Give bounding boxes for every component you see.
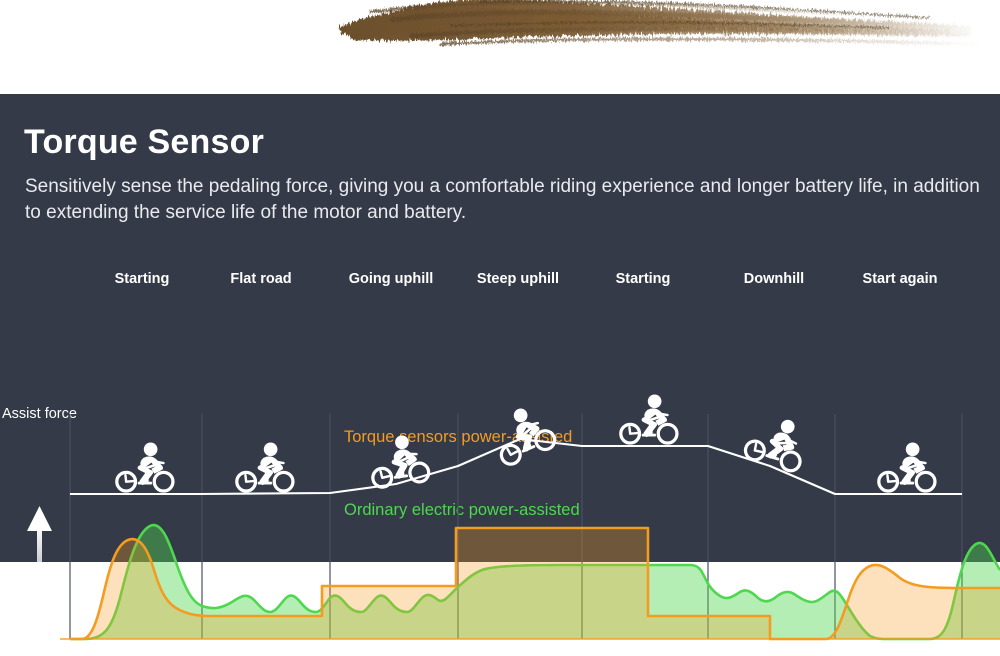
- assist-force-chart: [0, 188, 1000, 656]
- page-root: Torque Sensor Sensitively sense the peda…: [0, 0, 1000, 562]
- rider-icon-steep-uphill: [487, 400, 558, 467]
- torque-sensor-panel: Torque Sensor Sensitively sense the peda…: [0, 94, 1000, 562]
- rider-icon-start-again: [879, 442, 935, 491]
- rider-icon-starting-2: [621, 394, 677, 443]
- mud-brush-stroke-icon: [330, 0, 990, 54]
- series-area-torque: [70, 528, 1000, 639]
- rider-icon-flat-road: [237, 442, 293, 491]
- up-arrow-icon: [27, 506, 52, 638]
- page-title: Torque Sensor: [24, 123, 264, 162]
- top-image-strip: [0, 0, 1000, 94]
- rider-icon-starting-1: [117, 442, 173, 491]
- rider-icon-going-uphill: [367, 432, 429, 488]
- rider-icon-downhill: [743, 410, 811, 473]
- rider-group: [117, 394, 935, 491]
